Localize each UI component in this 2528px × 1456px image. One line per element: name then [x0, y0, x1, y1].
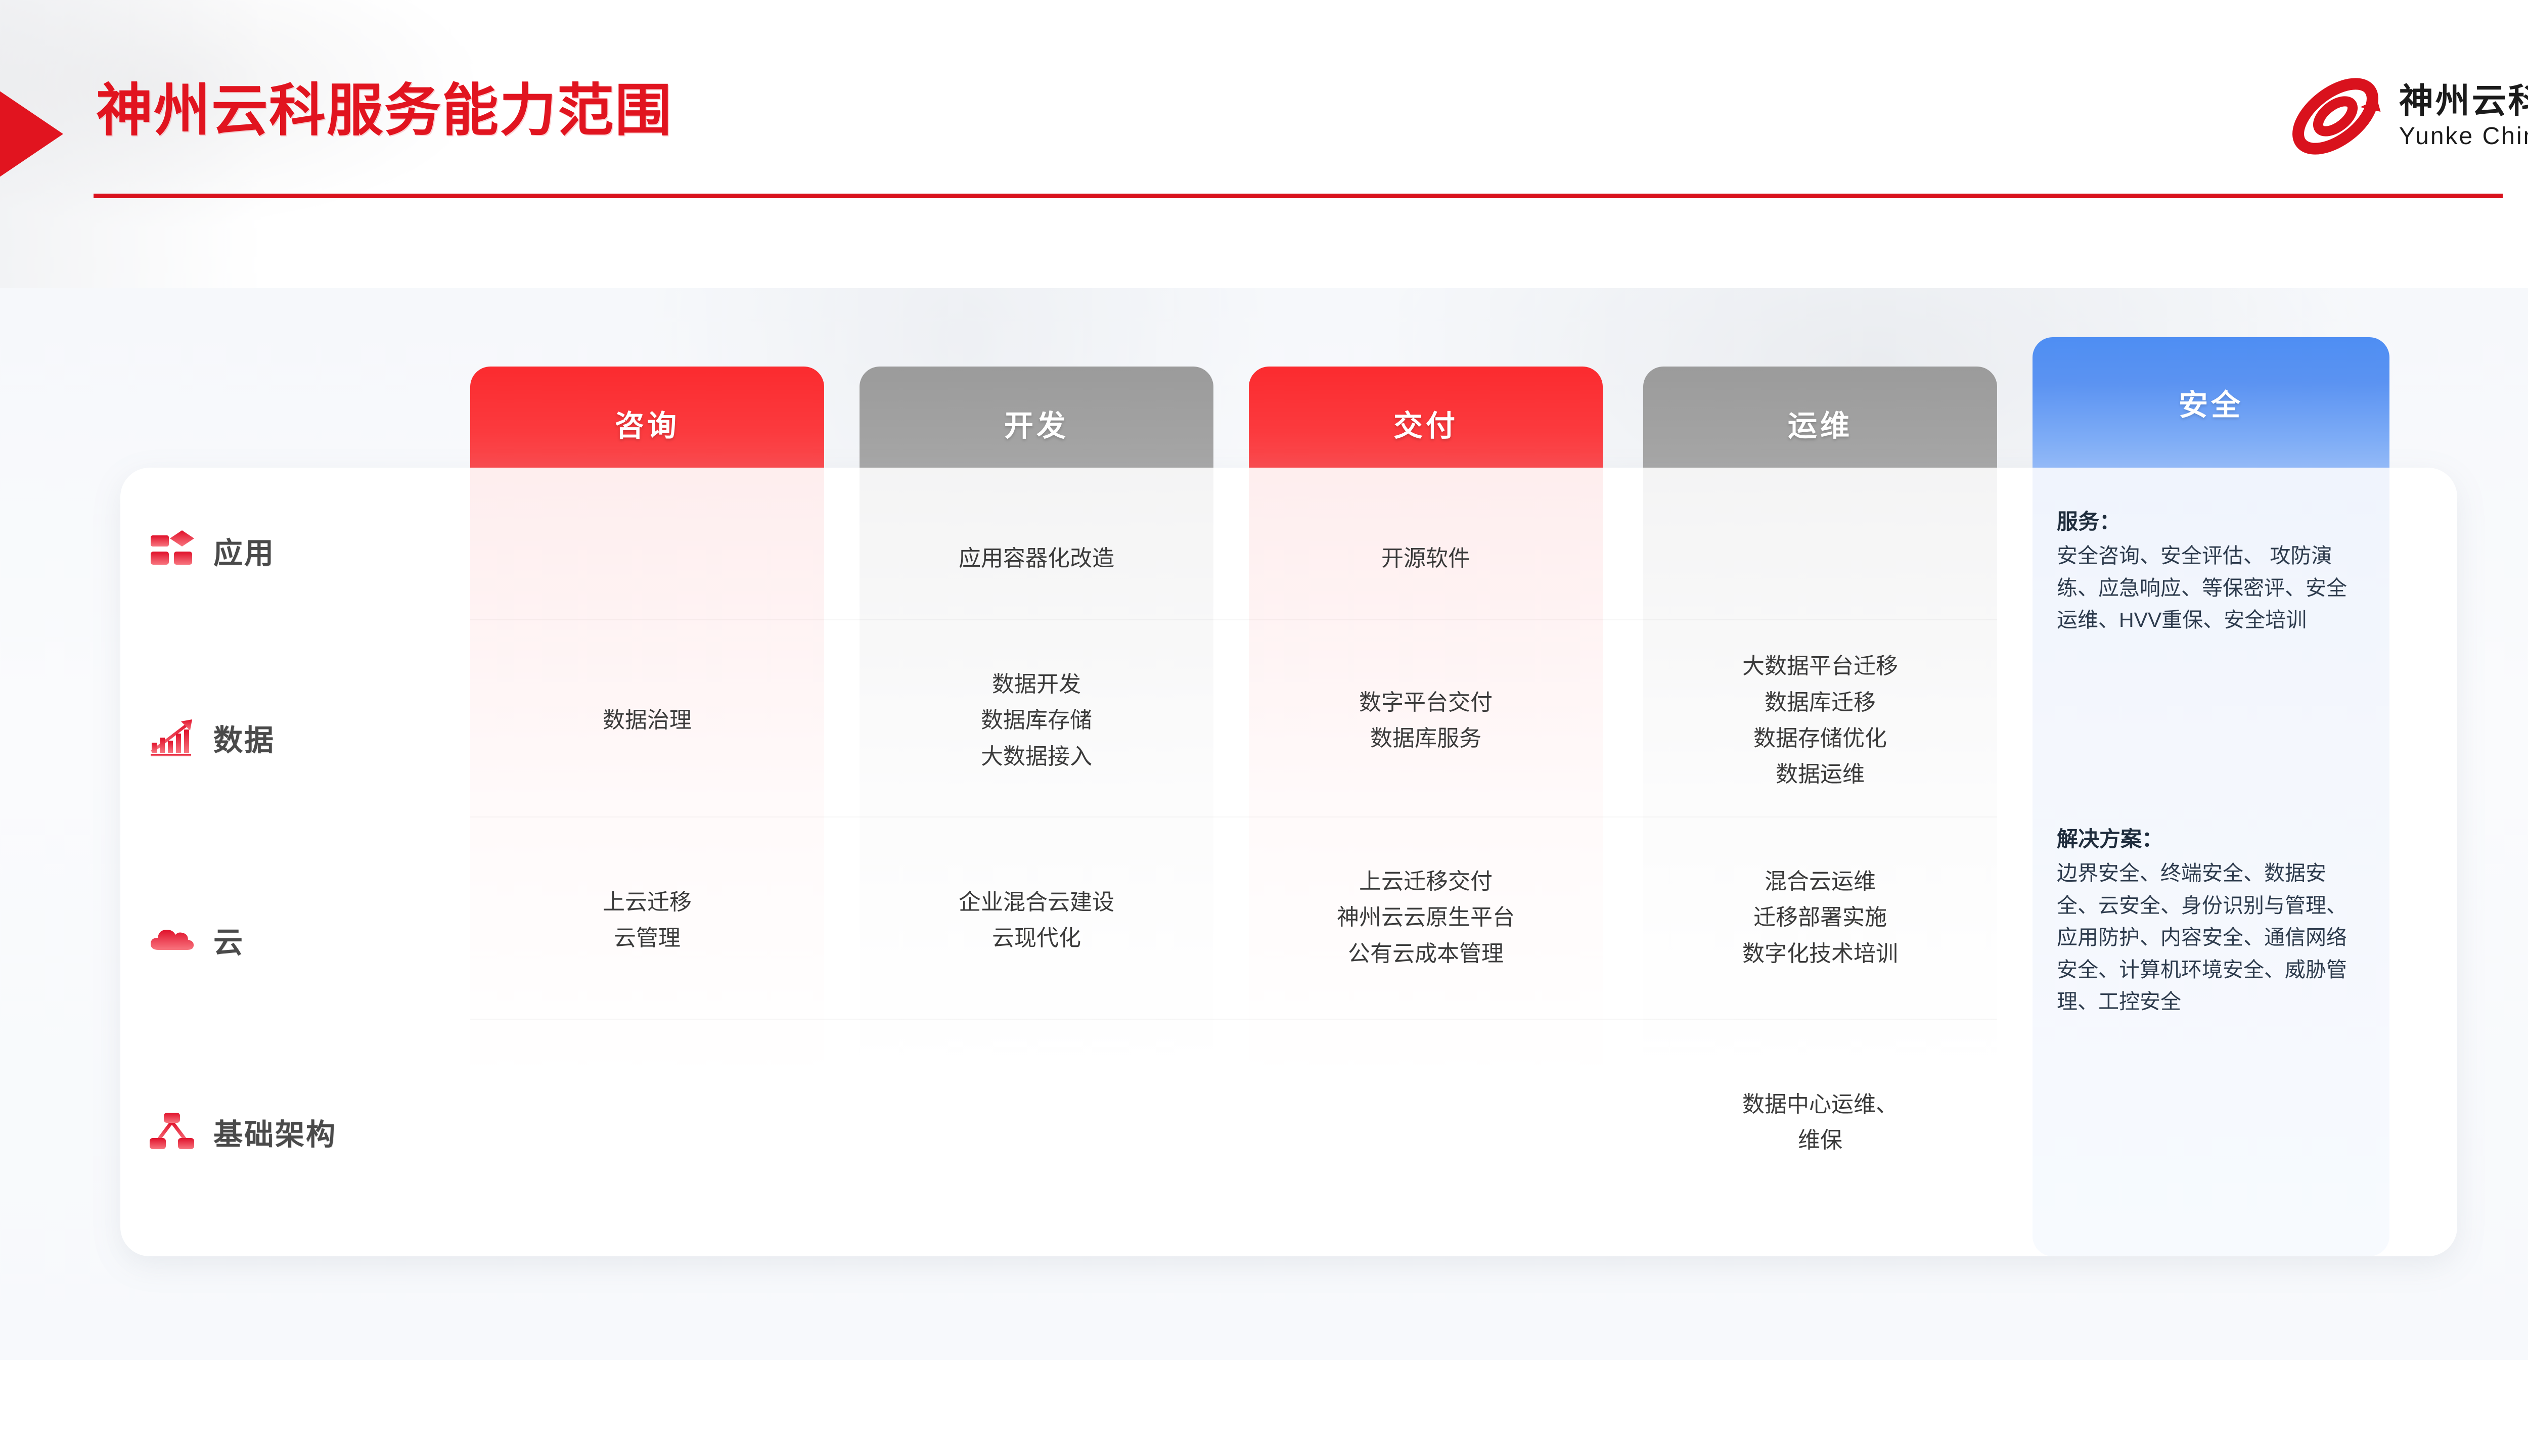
row-divider-1 — [470, 619, 1997, 620]
capability-matrix-canvas: 咨询 开发 交付 运维 安全 服务： 安全咨询、安全评估、 攻防演练、应急响应、… — [0, 288, 2528, 1360]
row-label-application[interactable]: 应用 — [149, 527, 275, 574]
row-divider-3 — [470, 1019, 1997, 1020]
cell-operations-cloud: 混合云运维 迁移部署实施 数字化技术培训 — [1643, 822, 1997, 1014]
matrix-card: 安全 服务： 安全咨询、安全评估、 攻防演练、应急响应、等保密评、安全运维、HV… — [120, 468, 2457, 1256]
row-label-application-text: 应用 — [213, 529, 275, 572]
network-hierarchy-icon — [149, 1109, 195, 1155]
cell-consulting-infrastructure — [470, 1024, 824, 1226]
cell-development-infrastructure — [860, 1024, 1213, 1226]
cell-line: 数据治理 — [603, 702, 692, 738]
cell-consulting-data: 数据治理 — [470, 634, 824, 806]
cell-consulting-application — [470, 498, 824, 619]
cell-delivery-infrastructure — [1249, 1024, 1603, 1226]
security-services-body: 安全咨询、安全评估、 攻防演练、应急响应、等保密评、安全运维、HVV重保、安全培… — [2057, 544, 2347, 631]
column-header-security[interactable]: 安全 — [2033, 337, 2389, 468]
cell-line: 上云迁移交付 — [1359, 863, 1493, 899]
logo-english-name: Yunke China — [2399, 124, 2528, 149]
cloud-icon — [149, 917, 195, 963]
cell-development-data: 数据开发 数据库存储 大数据接入 — [860, 634, 1213, 806]
security-solutions-body: 边界安全、终端安全、数据安全、云安全、身份识别与管理、应用防护、内容安全、通信网… — [2057, 861, 2347, 1013]
cell-consulting-cloud: 上云迁移 云管理 — [470, 827, 824, 1014]
cell-line: 数据运维 — [1776, 756, 1865, 792]
swirl-at-logo-icon — [2285, 76, 2386, 157]
cell-development-cloud: 企业混合云建设 云现代化 — [860, 827, 1213, 1014]
security-solutions-heading: 解决方案： — [2057, 823, 2360, 855]
cell-line: 数据库存储 — [981, 702, 1092, 738]
row-label-data-text: 数据 — [213, 716, 275, 759]
cell-line: 混合云运维 — [1765, 863, 1876, 899]
cell-line: 数据存储优化 — [1753, 720, 1887, 756]
company-logo: 神州云科 Yunke China — [2285, 76, 2528, 157]
app-blocks-icon — [149, 527, 195, 574]
row-label-cloud-text: 云 — [213, 919, 244, 961]
row-label-infrastructure[interactable]: 基础架构 — [149, 1109, 337, 1155]
bar-chart-growth-icon — [149, 714, 195, 761]
row-divider-2 — [470, 816, 1997, 817]
cell-line: 数字平台交付 — [1359, 685, 1493, 720]
arrow-marker-icon — [0, 71, 63, 197]
cell-line: 公有云成本管理 — [1348, 936, 1504, 972]
title-underline-rule — [94, 194, 2503, 198]
security-services-block: 服务： 安全咨询、安全评估、 攻防演练、应急响应、等保密评、安全运维、HVV重保… — [2057, 505, 2360, 636]
cell-operations-data: 大数据平台迁移 数据库迁移 数据存储优化 数据运维 — [1643, 624, 1997, 816]
cell-line: 数据开发 — [992, 666, 1081, 702]
security-panel: 安全 服务： 安全咨询、安全评估、 攻防演练、应急响应、等保密评、安全运维、HV… — [2033, 337, 2389, 1256]
cell-delivery-application: 开源软件 — [1249, 498, 1603, 619]
cell-line: 数据中心运维、 — [1742, 1086, 1898, 1122]
cell-line: 云现代化 — [992, 920, 1081, 956]
cell-line: 应用容器化改造 — [959, 540, 1114, 576]
cell-delivery-cloud: 上云迁移交付 神州云云原生平台 公有云成本管理 — [1249, 822, 1603, 1014]
cell-operations-application — [1643, 498, 1997, 619]
cell-line: 迁移部署实施 — [1753, 899, 1887, 935]
cell-line: 维保 — [1798, 1122, 1842, 1158]
page-title: 神州云科服务能力范围 — [96, 65, 672, 147]
row-label-data[interactable]: 数据 — [149, 714, 275, 761]
cell-line: 数字化技术培训 — [1742, 936, 1898, 972]
cell-development-application: 应用容器化改造 — [860, 498, 1213, 619]
row-label-infrastructure-text: 基础架构 — [213, 1111, 337, 1153]
row-label-cloud[interactable]: 云 — [149, 917, 244, 963]
cell-line: 大数据接入 — [981, 739, 1092, 775]
security-services-heading: 服务： — [2057, 505, 2360, 538]
security-solutions-block: 解决方案： 边界安全、终端安全、数据安全、云安全、身份识别与管理、应用防护、内容… — [2057, 823, 2360, 1018]
page-header: 神州云科服务能力范围 神州云科 Yunke China — [0, 0, 2528, 288]
cell-operations-infrastructure: 数据中心运维、 维保 — [1643, 1039, 1997, 1206]
logo-chinese-name: 神州云科 — [2399, 84, 2528, 118]
cell-line: 企业混合云建设 — [959, 884, 1114, 920]
cell-line: 上云迁移 — [603, 884, 692, 920]
cell-line: 数据库迁移 — [1765, 685, 1876, 720]
cell-line: 开源软件 — [1381, 540, 1470, 576]
cell-line: 云管理 — [614, 920, 681, 956]
cell-line: 神州云云原生平台 — [1337, 899, 1515, 935]
cell-line: 大数据平台迁移 — [1742, 648, 1898, 684]
cell-line: 数据库服务 — [1370, 720, 1481, 756]
cell-delivery-data: 数字平台交付 数据库服务 — [1249, 634, 1603, 806]
